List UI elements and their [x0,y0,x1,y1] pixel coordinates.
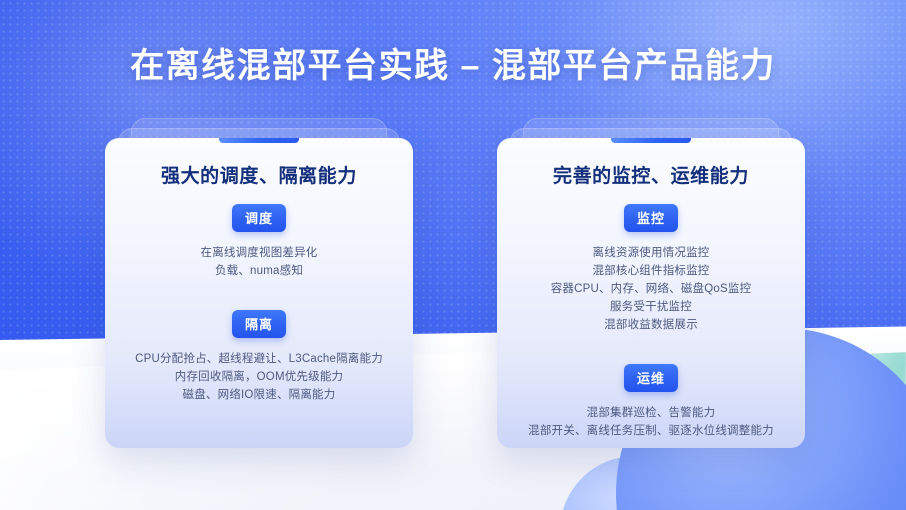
card-title: 强大的调度、隔离能力 [105,161,413,188]
badge-row-isolation: 隔离 [105,294,413,338]
section-spacer [497,334,805,348]
slide-stage: 在离线混部平台实践 – 混部平台产品能力 强大的调度、隔离能力 调度 在离线调度… [0,0,906,510]
feature-line: 混部开关、离线任务压制、驱逐水位线调整能力 [497,422,805,440]
card-scheduling-isolation[interactable]: 强大的调度、隔离能力 调度 在离线调度视图差异化 负载、numa感知 隔离 CP… [105,138,413,448]
feature-line: 离线资源使用情况监控 [497,244,805,262]
section-lines-isolation: CPU分配抢占、超线程避让、L3Cache隔离能力 内存回收隔离，OOM优先级能… [105,350,413,404]
slide-title: 在离线混部平台实践 – 混部平台产品能力 [0,38,906,87]
section-lines-scheduling: 在离线调度视图差异化 负载、numa感知 [105,244,413,280]
feature-line: 磁盘、网络IO限速、隔离能力 [105,386,413,404]
section-lines-monitoring: 离线资源使用情况监控 混部核心组件指标监控 容器CPU、内存、网络、磁盘QoS监… [497,244,805,334]
card-title: 完善的监控、运维能力 [497,161,805,188]
section-badge-isolation[interactable]: 隔离 [232,310,286,338]
card-accent-tab [219,138,299,143]
feature-line: 混部收益数据展示 [497,316,805,334]
feature-line: 服务受干扰监控 [497,298,805,316]
badge-row-ops: 运维 [497,348,805,392]
feature-line: 内存回收隔离，OOM优先级能力 [105,368,413,386]
section-lines-ops: 混部集群巡检、告警能力 混部开关、离线任务压制、驱逐水位线调整能力 [497,404,805,440]
feature-line: 混部核心组件指标监控 [497,262,805,280]
badge-row-monitoring: 监控 [497,188,805,232]
feature-line: CPU分配抢占、超线程避让、L3Cache隔离能力 [105,350,413,368]
section-badge-ops[interactable]: 运维 [624,364,678,392]
card-monitoring-ops[interactable]: 完善的监控、运维能力 监控 离线资源使用情况监控 混部核心组件指标监控 容器CP… [497,138,805,448]
card-accent-tab [611,138,691,143]
feature-line: 混部集群巡检、告警能力 [497,404,805,422]
feature-line: 容器CPU、内存、网络、磁盘QoS监控 [497,280,805,298]
section-badge-monitoring[interactable]: 监控 [624,204,678,232]
card-container: 强大的调度、隔离能力 调度 在离线调度视图差异化 负载、numa感知 隔离 CP… [0,118,906,458]
badge-row-scheduling: 调度 [105,188,413,232]
feature-line: 负载、numa感知 [105,262,413,280]
section-spacer [105,280,413,294]
feature-line: 在离线调度视图差异化 [105,244,413,262]
card-wrapper-monitoring: 完善的监控、运维能力 监控 离线资源使用情况监控 混部核心组件指标监控 容器CP… [497,118,805,448]
card-wrapper-scheduling: 强大的调度、隔离能力 调度 在离线调度视图差异化 负载、numa感知 隔离 CP… [105,118,413,448]
section-badge-scheduling[interactable]: 调度 [232,204,286,232]
